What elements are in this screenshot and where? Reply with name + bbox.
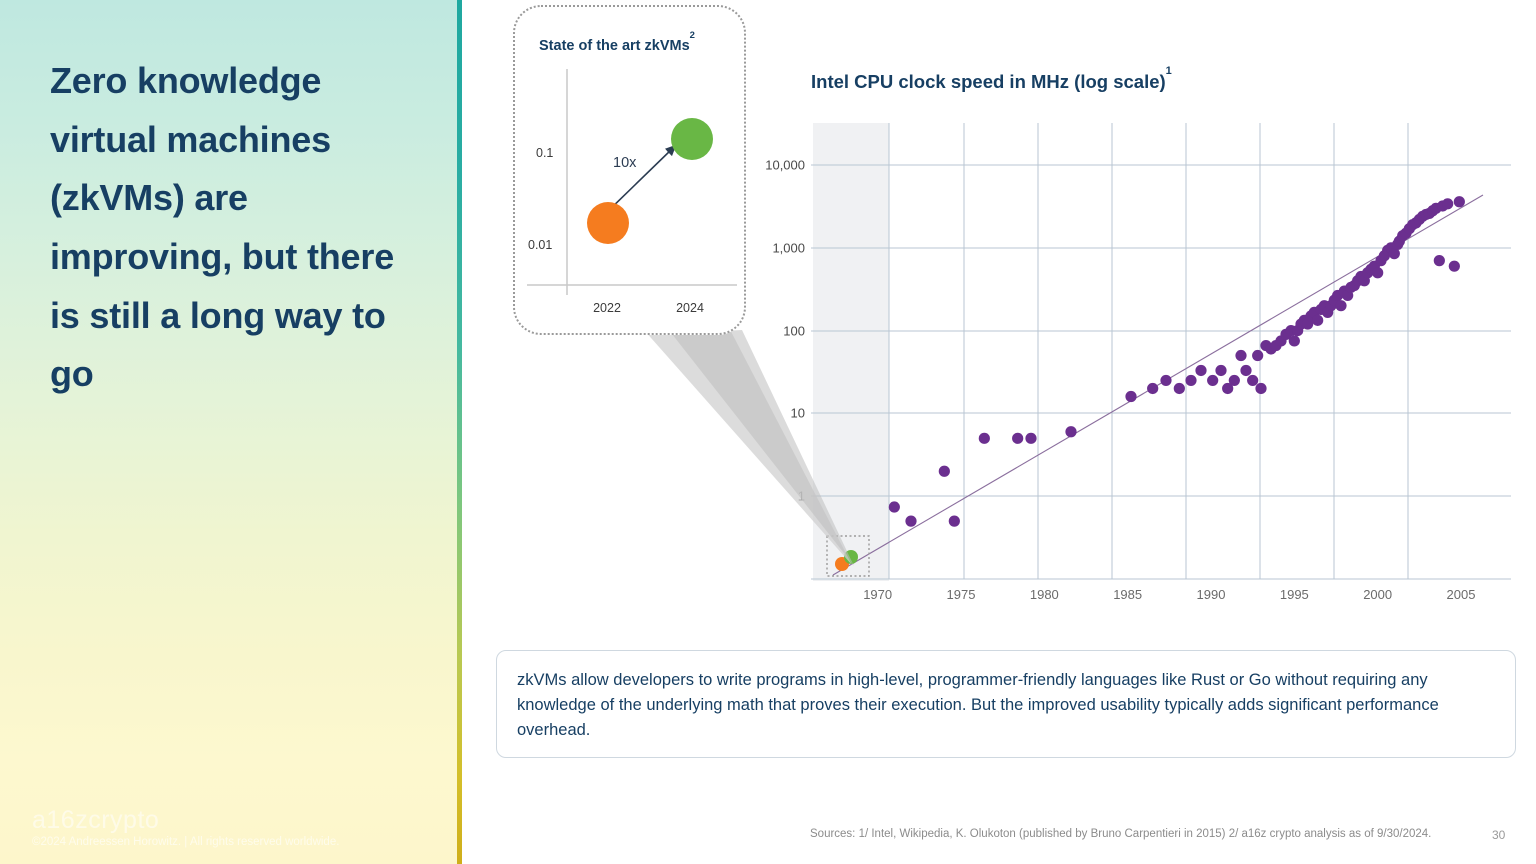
inset-xtick-1: 2024 <box>676 301 704 315</box>
inset-ytick-0: 0.1 <box>536 146 553 160</box>
growth-annotation: 10x <box>613 155 636 171</box>
title-panel: Zero knowledge virtual machines (zkVMs) … <box>0 0 462 864</box>
zkvm-inset-callout: State of the art zkVMs2 0.1 0.01 2022 20… <box>513 5 746 335</box>
zkvm-2022-dot <box>587 202 629 244</box>
sources-note: Sources: 1/ Intel, Wikipedia, K. Olukoto… <box>810 828 1431 840</box>
brand-logo: a16zcrypto <box>32 806 159 835</box>
content-panel: Intel CPU clock speed in MHz (log scale)… <box>462 0 1536 864</box>
page-title: Zero knowledge virtual machines (zkVMs) … <box>50 52 420 404</box>
inset-axes <box>515 7 748 337</box>
inset-ytick-1: 0.01 <box>528 238 552 252</box>
zkvm-2024-dot <box>671 118 713 160</box>
inset-xtick-0: 2022 <box>593 301 621 315</box>
page-number: 30 <box>1492 828 1505 842</box>
copyright-text: ©2024 Andreessen Horowitz. | All rights … <box>32 836 339 848</box>
